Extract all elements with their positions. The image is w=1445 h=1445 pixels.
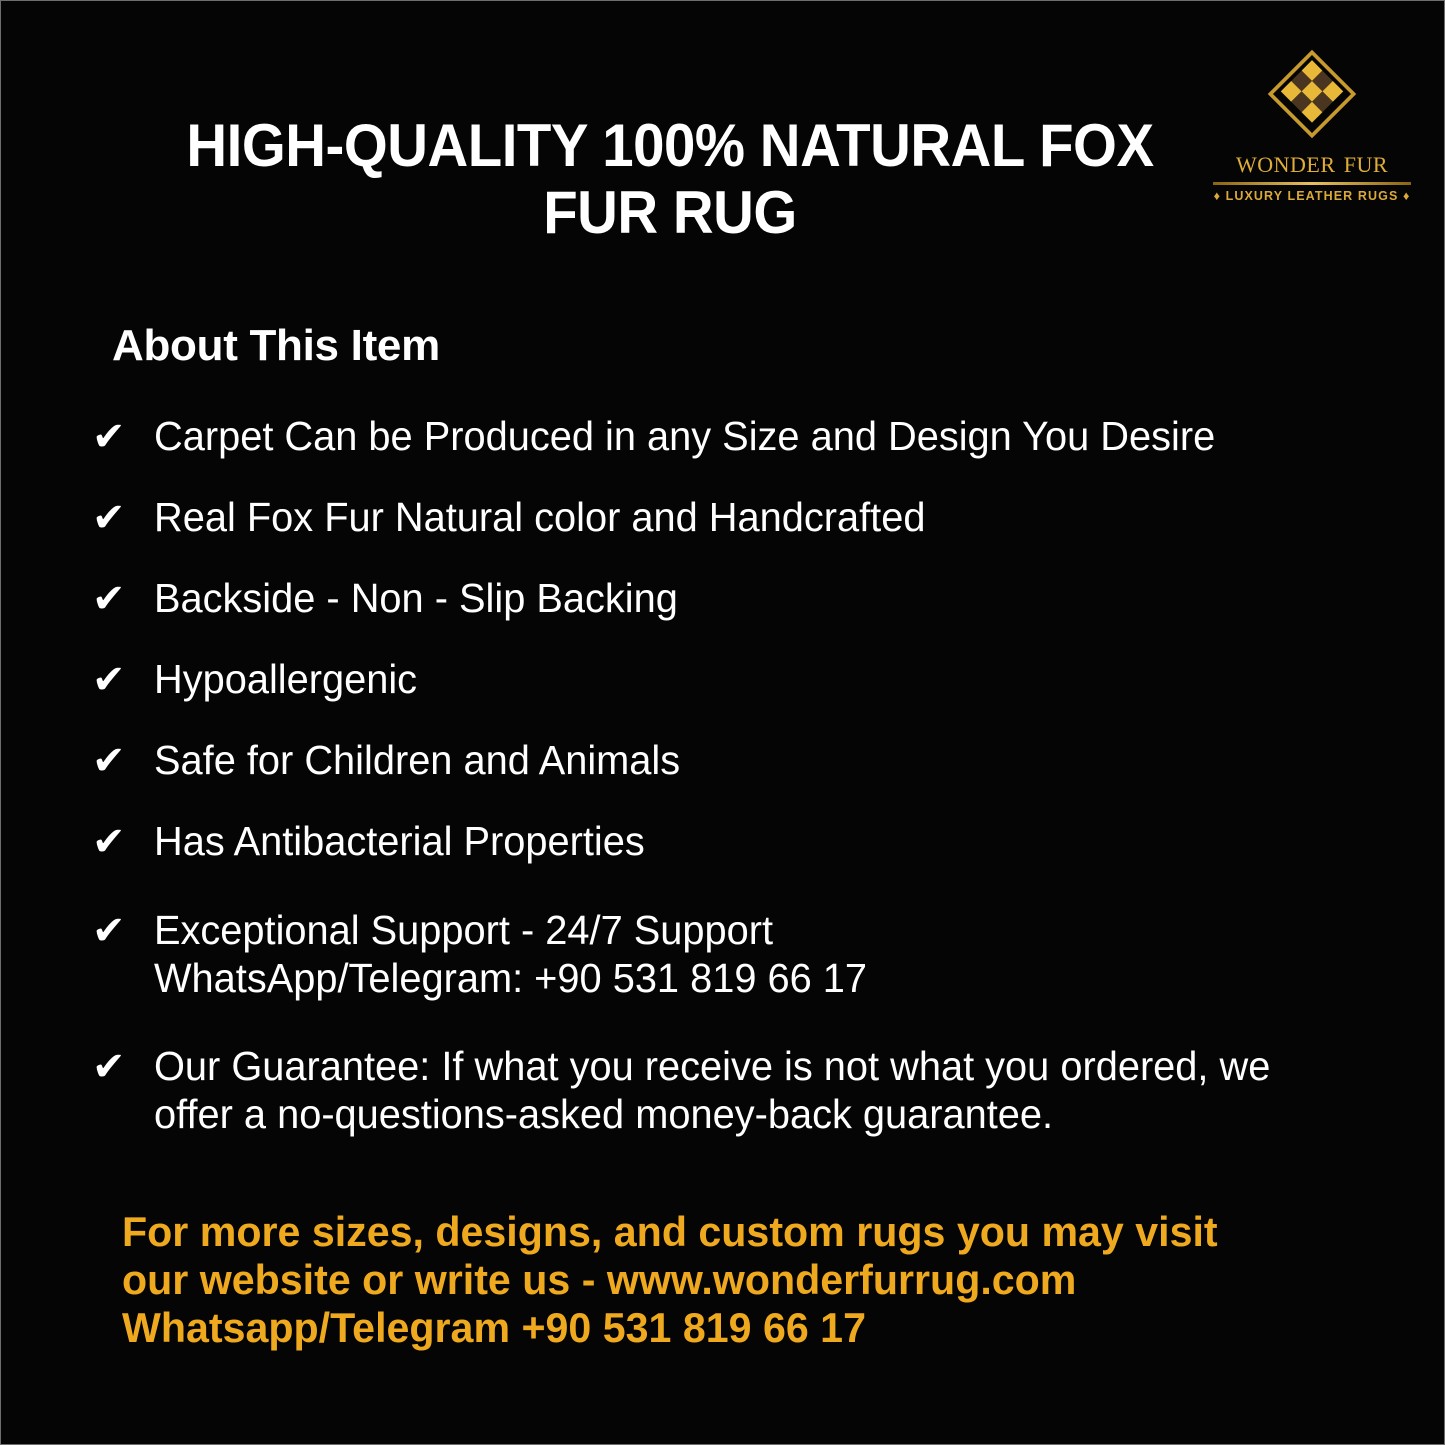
- poster-header: HIGH-QUALITY 100% NATURAL FOX FUR RUG: [0, 0, 1445, 280]
- check-icon: ✔: [92, 574, 154, 623]
- page-title: HIGH-QUALITY 100% NATURAL FOX FUR RUG: [181, 112, 1159, 246]
- list-item: ✔ Backside - Non - Slip Backing: [92, 574, 1385, 623]
- check-icon: ✔: [92, 1042, 154, 1091]
- contact-footer: For more sizes, designs, and custom rugs…: [122, 1208, 1360, 1352]
- list-item: ✔ Our Guarantee: If what you receive is …: [92, 1042, 1385, 1138]
- list-item: ✔ Carpet Can be Produced in any Size and…: [92, 412, 1385, 461]
- list-item-label: Safe for Children and Animals: [154, 736, 1348, 784]
- check-icon: ✔: [92, 493, 154, 542]
- list-item: ✔ Real Fox Fur Natural color and Handcra…: [92, 493, 1385, 542]
- list-item-label: Backside - Non - Slip Backing: [154, 574, 1348, 622]
- list-item: ✔ Has Antibacterial Properties: [92, 817, 1385, 866]
- diamond-checker-logo-icon: [1266, 48, 1358, 140]
- logo-wordmark: Wonder Fur: [1207, 144, 1417, 180]
- list-item: ✔ Exceptional Support - 24/7 Support Wha…: [92, 906, 1385, 1002]
- check-icon: ✔: [92, 906, 154, 955]
- check-icon: ✔: [92, 817, 154, 866]
- list-item-label: Real Fox Fur Natural color and Handcraft…: [154, 493, 1348, 541]
- logo-tagline: ♦ LUXURY LEATHER RUGS ♦: [1207, 189, 1417, 203]
- list-item-label: Our Guarantee: If what you receive is no…: [154, 1042, 1348, 1138]
- logo-divider: [1213, 182, 1411, 185]
- about-this-item-heading: About This Item: [112, 320, 440, 372]
- list-item: ✔ Safe for Children and Animals: [92, 736, 1385, 785]
- list-item-label: Hypoallergenic: [154, 655, 1348, 703]
- check-icon: ✔: [92, 736, 154, 785]
- check-icon: ✔: [92, 655, 154, 704]
- list-item: ✔ Hypoallergenic: [92, 655, 1385, 704]
- brand-logo: Wonder Fur ♦ LUXURY LEATHER RUGS ♦: [1207, 48, 1417, 203]
- list-item-label: Carpet Can be Produced in any Size and D…: [154, 412, 1348, 460]
- list-item-label: Has Antibacterial Properties: [154, 817, 1348, 865]
- list-item-label: Exceptional Support - 24/7 Support Whats…: [154, 906, 1348, 1002]
- product-info-poster: HIGH-QUALITY 100% NATURAL FOX FUR RUG: [0, 0, 1445, 1445]
- check-icon: ✔: [92, 412, 154, 461]
- feature-list: ✔ Carpet Can be Produced in any Size and…: [92, 412, 1385, 1170]
